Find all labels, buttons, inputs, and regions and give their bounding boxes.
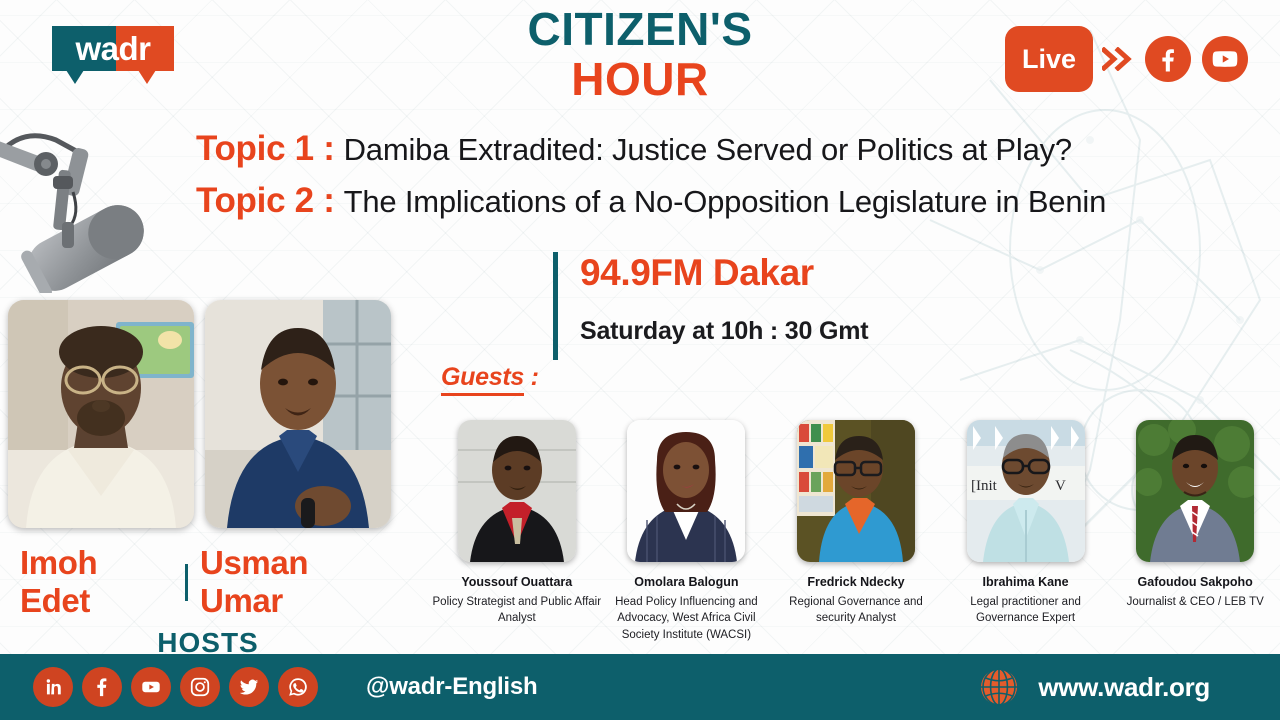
guests-label-text: Guests xyxy=(441,363,524,396)
host-photo-usman-umar xyxy=(205,300,391,528)
guests-section-label: Guests : xyxy=(441,363,539,392)
guest-photo-ibrahima-kane: [Init V xyxy=(967,420,1085,562)
globe-icon xyxy=(977,665,1021,709)
wadr-logo[interactable]: wadr xyxy=(52,26,174,84)
logo-wordmark: wadr xyxy=(52,26,174,71)
guest-role: Policy Strategist and Public Affair Anal… xyxy=(432,594,602,627)
live-stream-cluster: Live xyxy=(1005,26,1248,92)
website-url: www.wadr.org xyxy=(1038,672,1210,703)
guest-name: Fredrick Ndecky xyxy=(807,575,904,591)
host-photo-row xyxy=(8,300,408,528)
guests-label-colon: : xyxy=(524,363,539,391)
topic-1-label: Topic 1 : xyxy=(196,131,335,166)
footer-social-icons xyxy=(33,667,318,707)
guest-name: Ibrahima Kane xyxy=(983,575,1069,591)
guest-role: Head Policy Influencing and Advocacy, We… xyxy=(602,594,772,644)
facebook-icon[interactable] xyxy=(1145,36,1191,82)
guest-card: Gafoudou Sakpoho Journalist & CEO / LEB … xyxy=(1110,420,1280,644)
guest-role: Journalist & CEO / LEB TV xyxy=(1127,594,1264,611)
guest-photo-omolara-balogun xyxy=(627,420,745,562)
youtube-icon[interactable] xyxy=(1202,36,1248,82)
svg-text:V: V xyxy=(1055,478,1066,494)
station-frequency: 94.9FM Dakar xyxy=(580,252,868,294)
guest-role: Legal practitioner and Governance Expert xyxy=(941,594,1111,627)
footer-bar: @wadr-English www.wadr.org xyxy=(0,654,1280,720)
guests-list: Youssouf Ouattara Policy Strategist and … xyxy=(432,420,1280,644)
guest-card: [Init V Ibrahima Kane Legal practitioner… xyxy=(941,420,1111,644)
topic-1-text: Damiba Extradited: Justice Served or Pol… xyxy=(344,134,1072,165)
broadcast-poster: wadr CITIZEN'S HOUR Live xyxy=(0,0,1280,720)
topic-2-label: Topic 2 : xyxy=(196,183,335,218)
guest-role: Regional Governance and security Analyst xyxy=(771,594,941,627)
live-badge[interactable]: Live xyxy=(1005,26,1093,92)
facebook-icon[interactable] xyxy=(82,667,122,707)
guest-card: Fredrick Ndecky Regional Governance and … xyxy=(771,420,941,644)
guest-name: Omolara Balogun xyxy=(634,575,738,591)
guest-photo-fredrick-ndecky xyxy=(797,420,915,562)
guest-photo-gafoudou-sakpoho xyxy=(1136,420,1254,562)
studio-microphone-graphic xyxy=(0,118,186,293)
station-info: 94.9FM Dakar Saturday at 10h : 30 Gmt xyxy=(553,252,868,360)
host-photo-imoh-edet xyxy=(8,300,194,528)
guest-card: Omolara Balogun Head Policy Influencing … xyxy=(602,420,772,644)
topic-row: Topic 1 : Damiba Extradited: Justice Ser… xyxy=(196,131,1106,166)
svg-text:[Init: [Init xyxy=(971,478,998,494)
topics-list: Topic 1 : Damiba Extradited: Justice Ser… xyxy=(196,131,1106,235)
guest-name: Youssouf Ouattara xyxy=(461,575,572,591)
double-chevron-right-icon xyxy=(1102,47,1136,71)
youtube-icon[interactable] xyxy=(131,667,171,707)
host-name-2: Usman Umar xyxy=(188,544,408,620)
station-schedule: Saturday at 10h : 30 Gmt xyxy=(580,317,868,346)
linkedin-icon[interactable] xyxy=(33,667,73,707)
guest-name: Gafoudou Sakpoho xyxy=(1138,575,1253,591)
guest-card: Youssouf Ouattara Policy Strategist and … xyxy=(432,420,602,644)
guest-photo-youssouf-ouattara xyxy=(458,420,576,562)
hosts-section: Imoh Edet Usman Umar HOSTS xyxy=(8,300,408,669)
host-names-row: Imoh Edet Usman Umar xyxy=(8,544,408,620)
instagram-icon[interactable] xyxy=(180,667,220,707)
topic-2-text: The Implications of a No-Opposition Legi… xyxy=(344,186,1107,217)
website-block[interactable]: www.wadr.org xyxy=(977,665,1210,709)
social-handle: @wadr-English xyxy=(366,673,537,701)
whatsapp-icon[interactable] xyxy=(278,667,318,707)
topic-row: Topic 2 : The Implications of a No-Oppos… xyxy=(196,183,1106,218)
host-name-1: Imoh Edet xyxy=(8,544,185,620)
twitter-icon[interactable] xyxy=(229,667,269,707)
